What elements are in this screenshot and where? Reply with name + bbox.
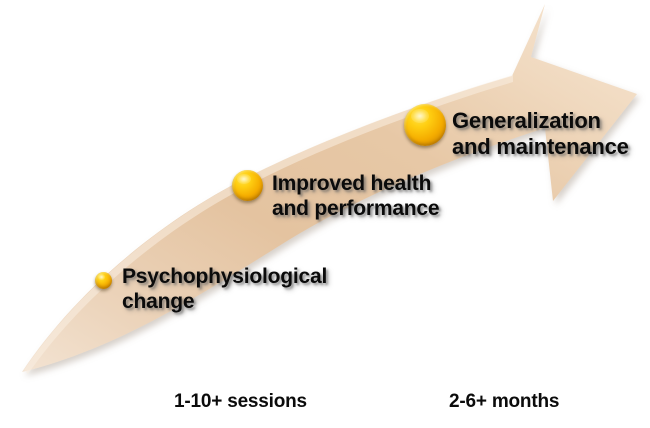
gold-sphere-icon — [232, 170, 263, 201]
stage-label-psychophysiological-change: Psychophysiological change — [122, 265, 327, 315]
stage-node-large — [404, 104, 446, 146]
stage-label-improved-health: Improved health and performance — [272, 172, 439, 222]
gold-sphere-icon — [95, 272, 112, 289]
stage-node-medium — [232, 170, 263, 201]
gold-sphere-icon — [404, 104, 446, 146]
timeline-caption-sessions: 1-10+ sessions — [174, 391, 307, 413]
timeline-caption-months: 2-6+ months — [449, 391, 559, 413]
stage-node-small — [95, 272, 112, 289]
progression-diagram: Generalization and maintenance Improved … — [0, 0, 650, 428]
stage-label-generalization: Generalization and maintenance — [452, 108, 629, 160]
